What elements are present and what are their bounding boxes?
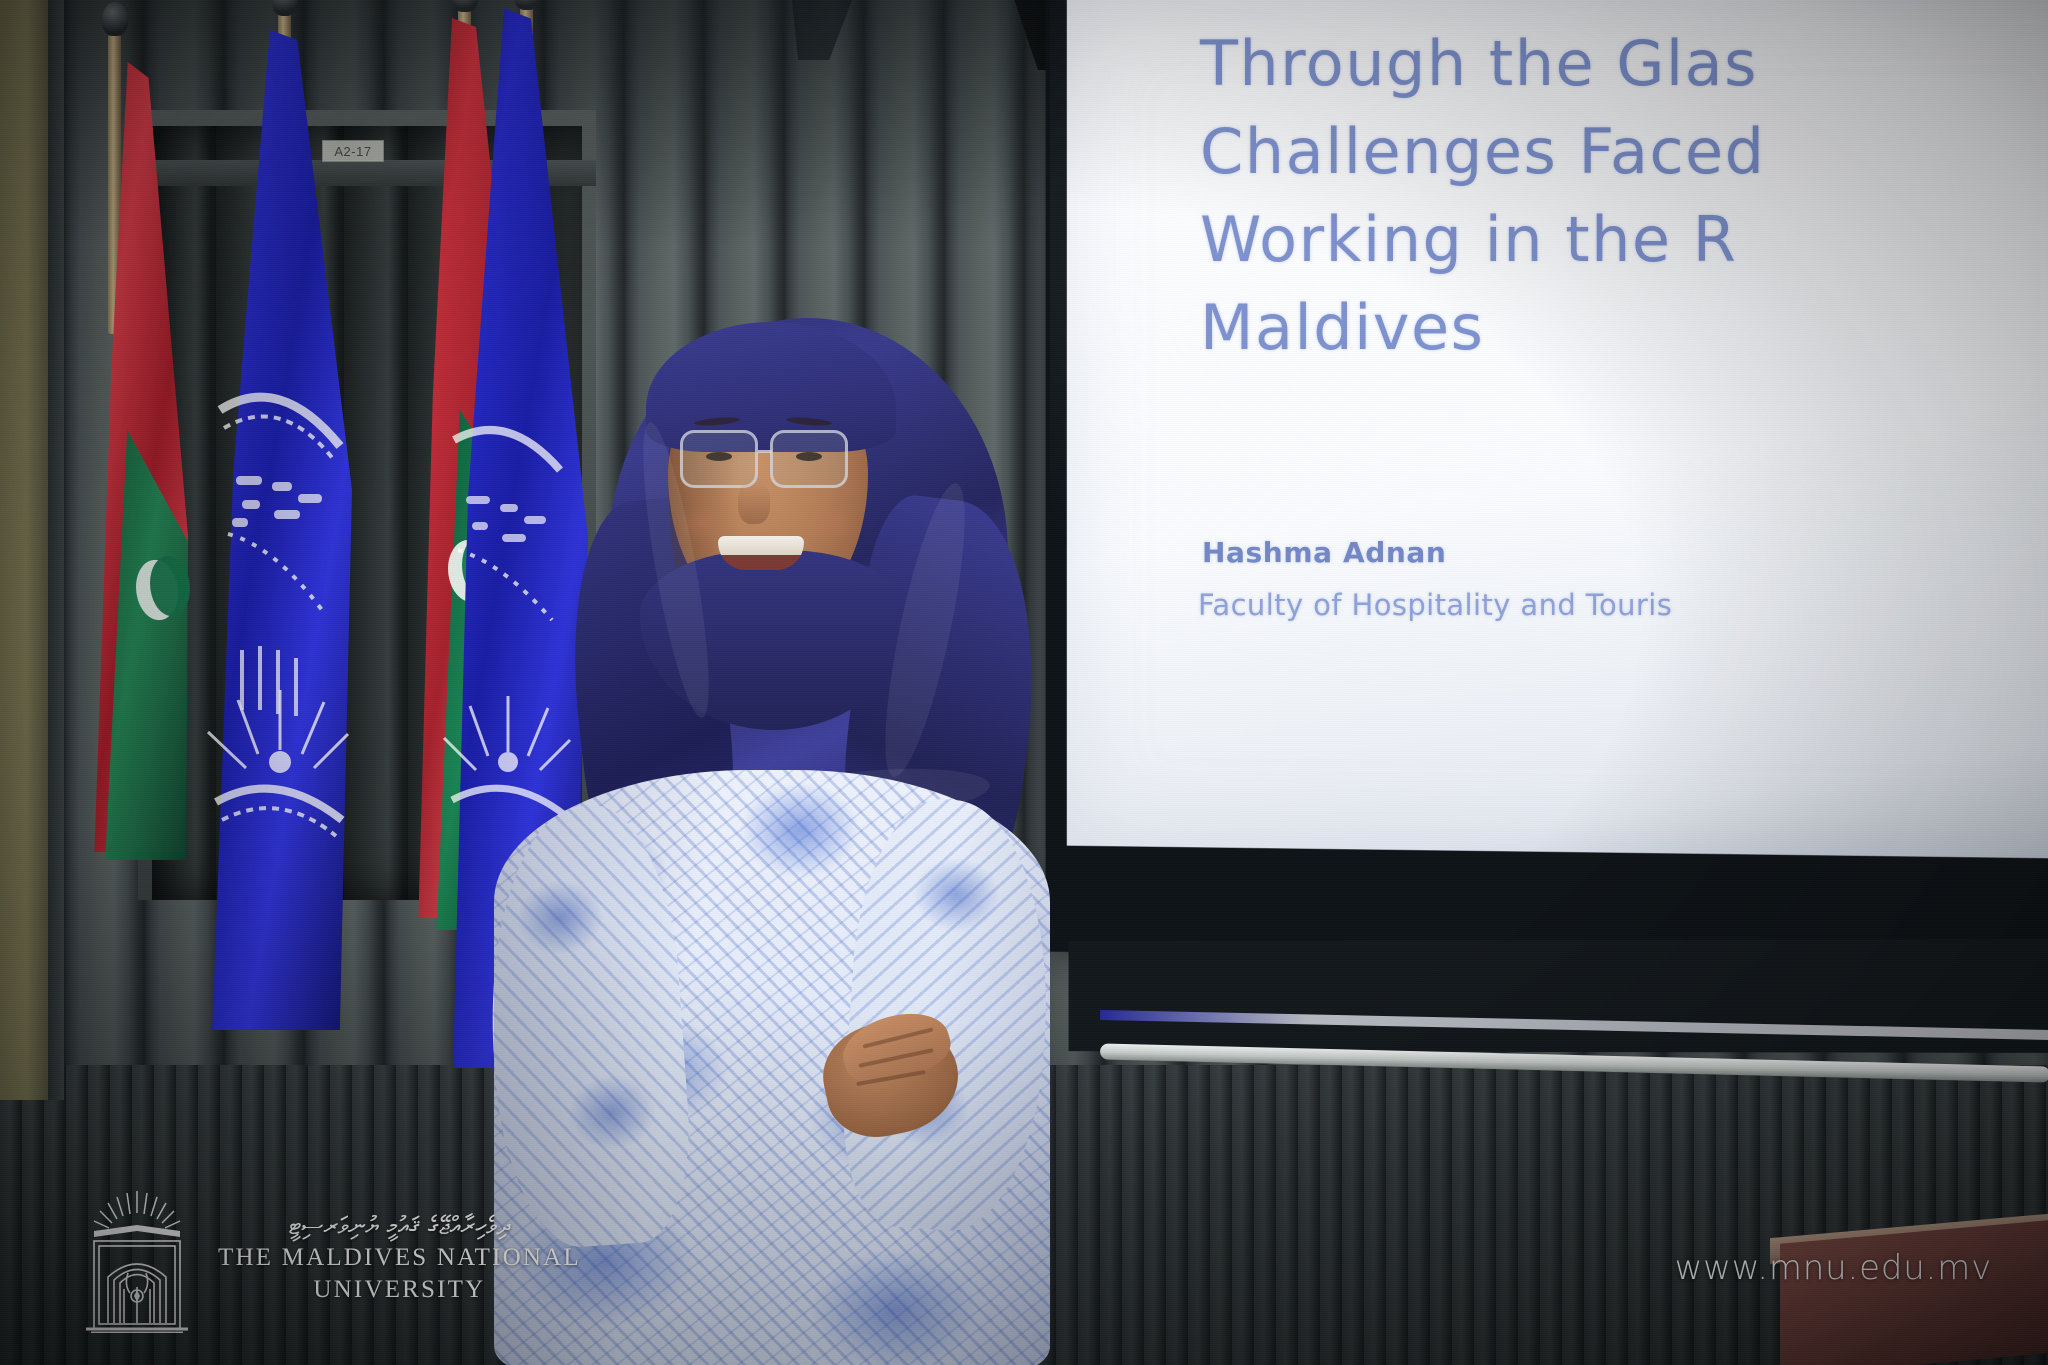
cheek-right bbox=[808, 505, 858, 541]
mnu-crest-left bbox=[202, 350, 352, 910]
slide-title-line-2: Challenges Faced bbox=[1200, 108, 2048, 196]
mnu-logo-watermark: ދިވެހިރާއްޖޭގެ ޤައުމީ ޔުނިވަރސިޓީ THE MA… bbox=[78, 1183, 508, 1333]
room-number-sign: A2-17 bbox=[322, 140, 384, 162]
slide-author: Hashma Adnan bbox=[1202, 536, 1446, 569]
slide-title-block: Through the Glas Challenges Faced Workin… bbox=[1200, 20, 2048, 372]
left-pillar-edge bbox=[48, 0, 64, 1100]
slide-title-line-3: Working in the R bbox=[1200, 196, 2048, 284]
mnu-name-dhivehi: ދިވެހިރާއްޖޭގެ ޤައުމީ ޔުނިވަރސިޓީ bbox=[289, 1212, 510, 1240]
mnu-name-english-line2: UNIVERSITY bbox=[313, 1276, 485, 1304]
eyeglasses-bridge bbox=[758, 450, 772, 453]
slide-title-line-4: Maldives bbox=[1200, 284, 2048, 372]
left-pillar bbox=[0, 0, 48, 1100]
presenter bbox=[470, 300, 1050, 1365]
nose bbox=[738, 482, 770, 524]
photo-canvas: A2-17 Through the Glas Challenges Faced … bbox=[0, 0, 2048, 1365]
mouth bbox=[718, 536, 804, 570]
eyeglasses-right-lens bbox=[770, 430, 848, 488]
mnu-logo-text: ދިވެހިރާއްޖޭގެ ޤައުމީ ޔުނިވަރސިޓީ THE MA… bbox=[218, 1212, 581, 1304]
mnu-name-english-line1: THE MALDIVES NATIONAL bbox=[218, 1244, 581, 1272]
website-url-watermark: www.mnu.edu.mv bbox=[1675, 1248, 1992, 1288]
mnu-emblem-icon bbox=[78, 1183, 196, 1333]
slide-affiliation: Faculty of Hospitality and Touris bbox=[1198, 588, 1672, 622]
teeth bbox=[718, 536, 804, 555]
eyeglasses-left-lens bbox=[680, 430, 758, 488]
flagpole-finial-1 bbox=[102, 2, 128, 36]
slide-title-line-1: Through the Glas bbox=[1200, 20, 2048, 108]
podium-body bbox=[1780, 1220, 2048, 1365]
